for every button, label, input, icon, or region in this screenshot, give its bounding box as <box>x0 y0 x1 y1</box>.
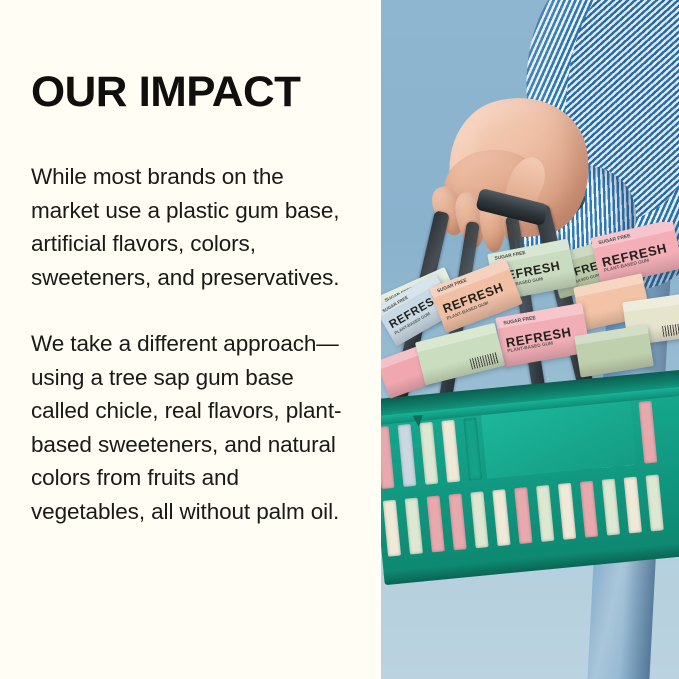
basket-slot <box>536 485 554 542</box>
basket-slot <box>602 479 620 536</box>
basket-slot <box>419 422 438 485</box>
basket-slot <box>514 487 532 544</box>
shopping-basket <box>381 368 679 595</box>
basket-slot <box>580 481 598 538</box>
box-mint-front <box>415 323 505 386</box>
paragraph-our-approach: We take a different approach—using a tre… <box>31 327 357 528</box>
basket-slot <box>405 498 423 555</box>
impact-promo-panel: OUR IMPACT While most brands on the mark… <box>0 0 679 679</box>
basket-slot <box>398 424 417 487</box>
box-shadow-overlay <box>422 351 505 385</box>
basket-slot <box>441 420 460 483</box>
text-panel: OUR IMPACT While most brands on the mark… <box>0 0 381 679</box>
basket-slot <box>383 500 401 557</box>
basket-slot <box>448 493 466 550</box>
basket-slot <box>492 489 510 546</box>
basket-slot <box>427 495 445 552</box>
page-title: OUR IMPACT <box>31 70 300 115</box>
basket-slot <box>470 491 488 548</box>
body-copy: While most brands on the market use a pl… <box>31 160 357 528</box>
basket-slot <box>381 426 395 489</box>
basket-slot <box>624 477 642 534</box>
basket-slot <box>463 418 482 481</box>
product-photo: SUGAR FREEREFRESHPLANT-BASED GUMSUGAR FR… <box>381 0 679 679</box>
paragraph-plastic-gum-base: While most brands on the market use a pl… <box>31 160 357 294</box>
basket-slot <box>558 483 576 540</box>
basket-slot <box>646 474 664 531</box>
basket-slot <box>638 401 657 464</box>
